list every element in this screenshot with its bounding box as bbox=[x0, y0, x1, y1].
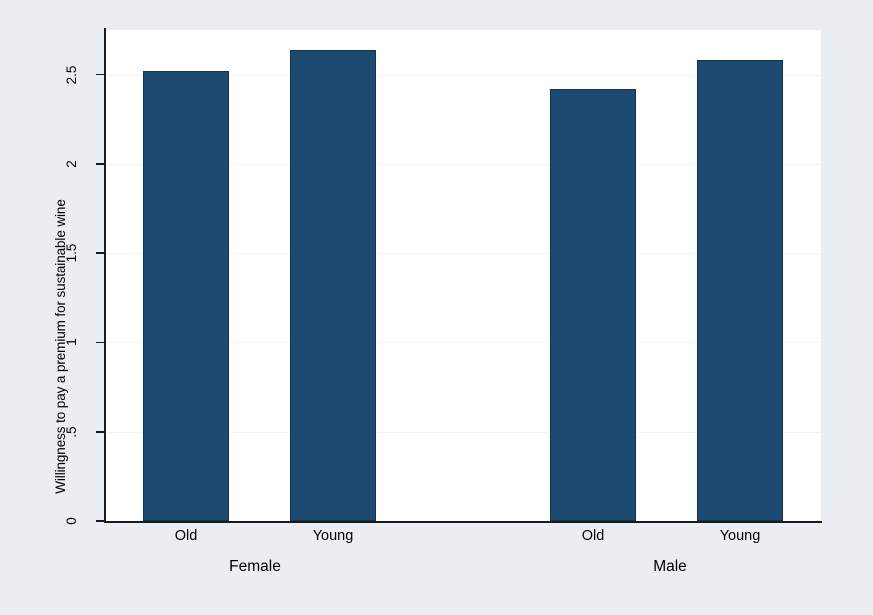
y-tick-label-2_5: 2.5 bbox=[63, 52, 79, 98]
x-axis-line bbox=[104, 521, 822, 523]
y-tick-mark-1_5 bbox=[96, 252, 104, 254]
chart-figure: Willingness to pay a premium for sustain… bbox=[0, 0, 873, 615]
y-tick-mark-2 bbox=[96, 163, 104, 165]
bar-male-young[interactable] bbox=[697, 60, 783, 521]
y-axis-line bbox=[104, 28, 106, 522]
y-tick-mark-0_5 bbox=[96, 431, 104, 433]
y-tick-label-1_5: 1.5 bbox=[63, 230, 79, 276]
y-tick-label-2: 2 bbox=[63, 141, 79, 187]
y-tick-label-1: 1 bbox=[63, 319, 79, 365]
x-group-label-male: Male bbox=[590, 558, 750, 576]
bar-male-old[interactable] bbox=[550, 89, 636, 521]
y-tick-mark-0 bbox=[96, 520, 104, 522]
y-tick-label-0: 0 bbox=[63, 498, 79, 544]
x-tick-label-female-old: Old bbox=[126, 528, 246, 544]
y-tick-label-0_5: .5 bbox=[63, 409, 79, 455]
x-group-label-female: Female bbox=[175, 558, 335, 576]
bar-female-old[interactable] bbox=[143, 71, 229, 521]
x-tick-label-female-young: Young bbox=[273, 528, 393, 544]
bar-female-young[interactable] bbox=[290, 50, 376, 521]
y-tick-mark-1 bbox=[96, 342, 104, 344]
plot-area bbox=[105, 30, 821, 521]
x-tick-label-male-young: Young bbox=[680, 528, 800, 544]
y-tick-mark-2_5 bbox=[96, 74, 104, 76]
x-tick-label-male-old: Old bbox=[533, 528, 653, 544]
